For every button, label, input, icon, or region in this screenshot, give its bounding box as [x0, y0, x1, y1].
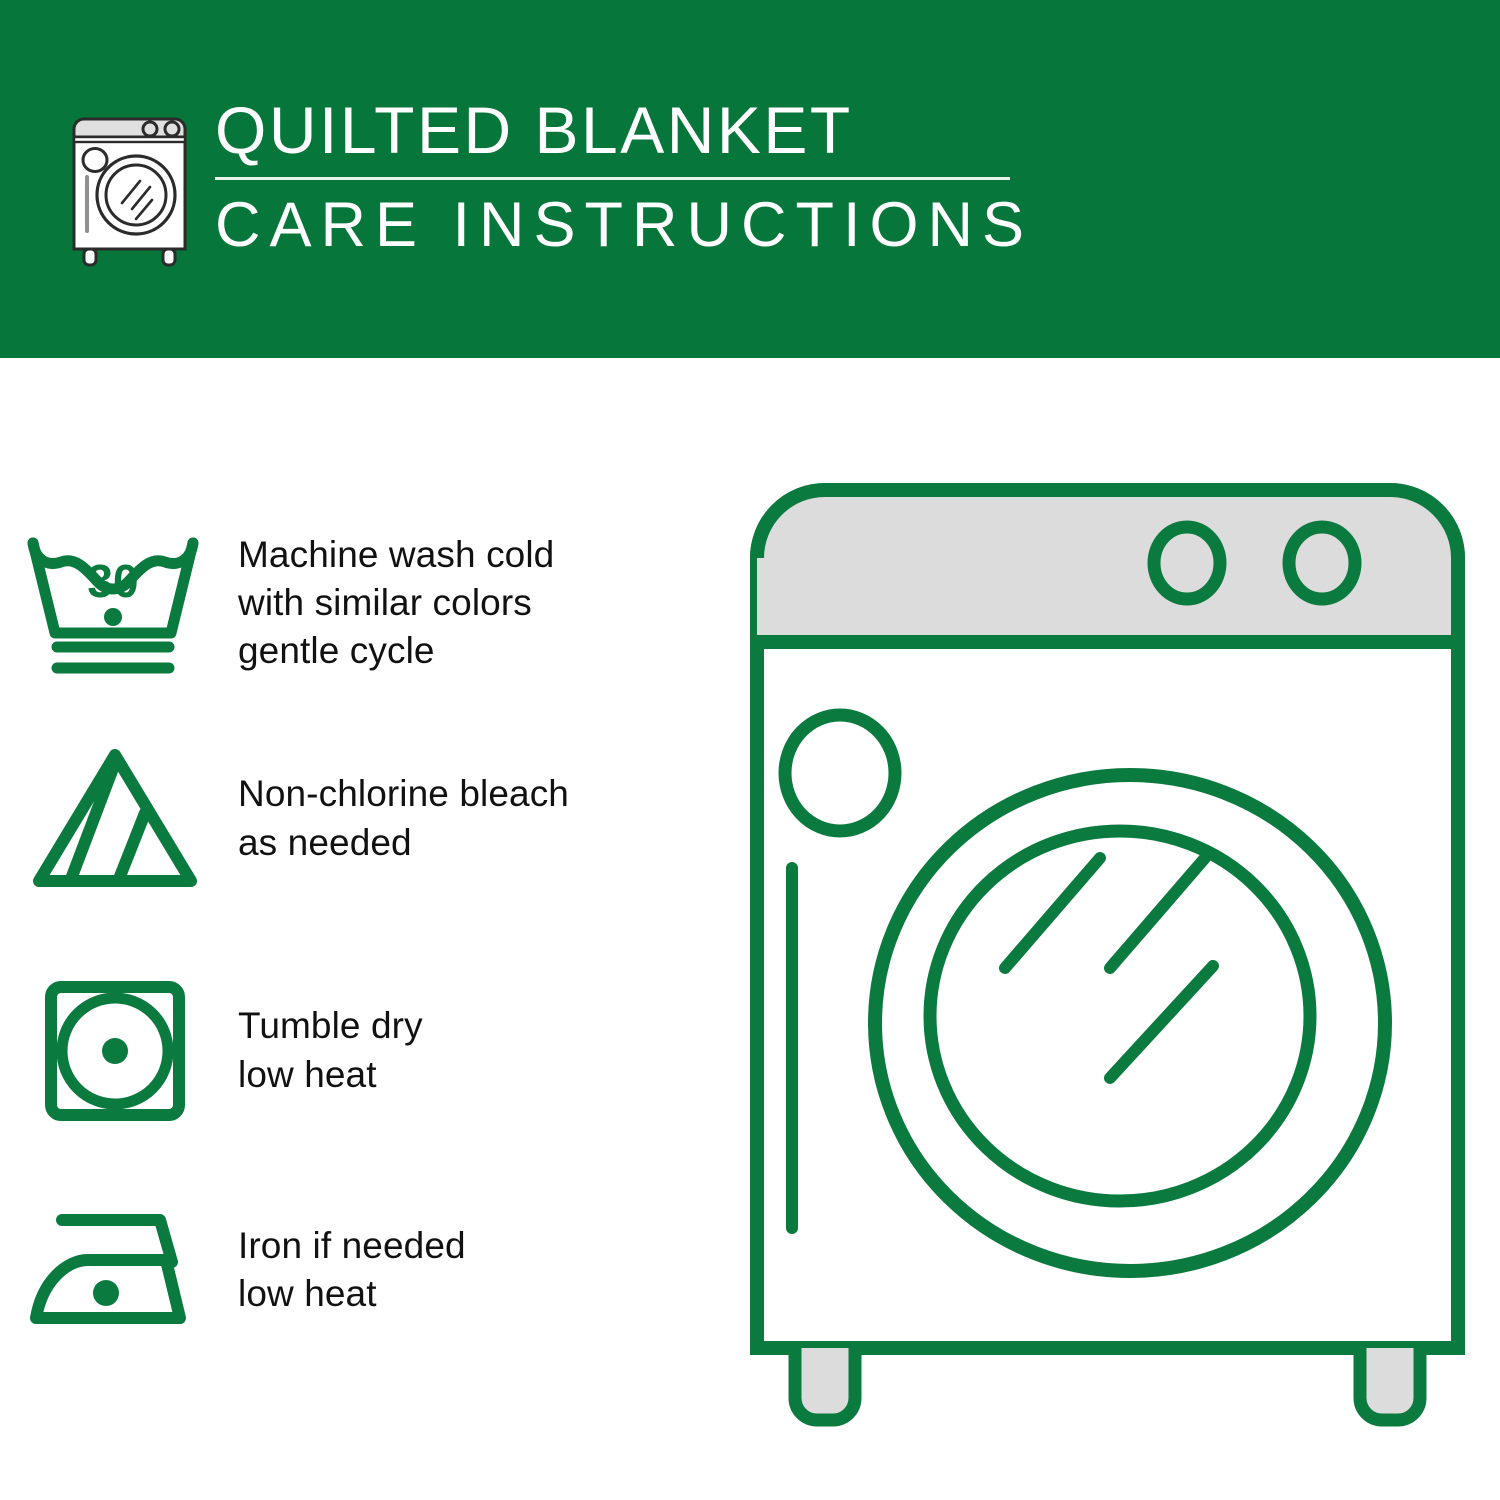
care-item-tumble-dry: Tumble dry low heat	[0, 958, 730, 1143]
non-chlorine-bleach-triangle-icon	[0, 729, 230, 909]
knob-right[interactable]	[1289, 527, 1355, 599]
care-text-bleach: Non-chlorine bleach as needed	[230, 770, 569, 866]
wash-temperature-label: 30	[87, 555, 138, 607]
title-divider	[215, 177, 1010, 180]
care-text-iron: Iron if needed low heat	[230, 1222, 466, 1318]
care-instruction-list: 30 Machine wash cold with similar colors…	[0, 358, 730, 1500]
iron-low-heat-icon	[0, 1180, 230, 1360]
header-band: QUILTED BLANKET CARE INSTRUCTIONS	[0, 0, 1500, 358]
care-item-iron: Iron if needed low heat	[0, 1180, 730, 1360]
care-text-line: low heat	[238, 1051, 423, 1099]
leg-right	[1360, 1348, 1420, 1420]
care-item-bleach: Non-chlorine bleach as needed	[0, 726, 730, 911]
care-text-wash: Machine wash cold with similar colors ge…	[230, 531, 554, 675]
door-inner-ring	[930, 831, 1310, 1201]
washing-machine-illustration	[735, 468, 1480, 1448]
care-text-line: gentle cycle	[238, 627, 554, 675]
leg-left	[795, 1348, 855, 1420]
washing-machine-icon	[62, 105, 197, 270]
care-text-tumble-dry: Tumble dry low heat	[230, 1002, 423, 1098]
care-text-line: with similar colors	[238, 579, 554, 627]
care-text-line: Tumble dry	[238, 1002, 423, 1050]
tumble-dry-low-icon	[0, 961, 230, 1141]
header-text-block: QUILTED BLANKET CARE INSTRUCTIONS	[215, 96, 1025, 258]
care-text-line: Non-chlorine bleach	[238, 770, 569, 818]
knob-left[interactable]	[1154, 527, 1220, 599]
wash-tub-30-gentle-icon: 30	[0, 513, 230, 693]
page-subtitle: CARE INSTRUCTIONS	[215, 192, 1025, 258]
page-title: QUILTED BLANKET	[215, 96, 1025, 165]
care-item-wash: 30 Machine wash cold with similar colors…	[0, 508, 730, 698]
care-text-line: Iron if needed	[238, 1222, 466, 1270]
care-text-line: low heat	[238, 1270, 466, 1318]
care-instructions-page: QUILTED BLANKET CARE INSTRUCTIONS	[0, 0, 1500, 1500]
dispenser-circle	[785, 715, 895, 831]
care-text-line: as needed	[238, 819, 569, 867]
care-text-line: Machine wash cold	[238, 531, 554, 579]
